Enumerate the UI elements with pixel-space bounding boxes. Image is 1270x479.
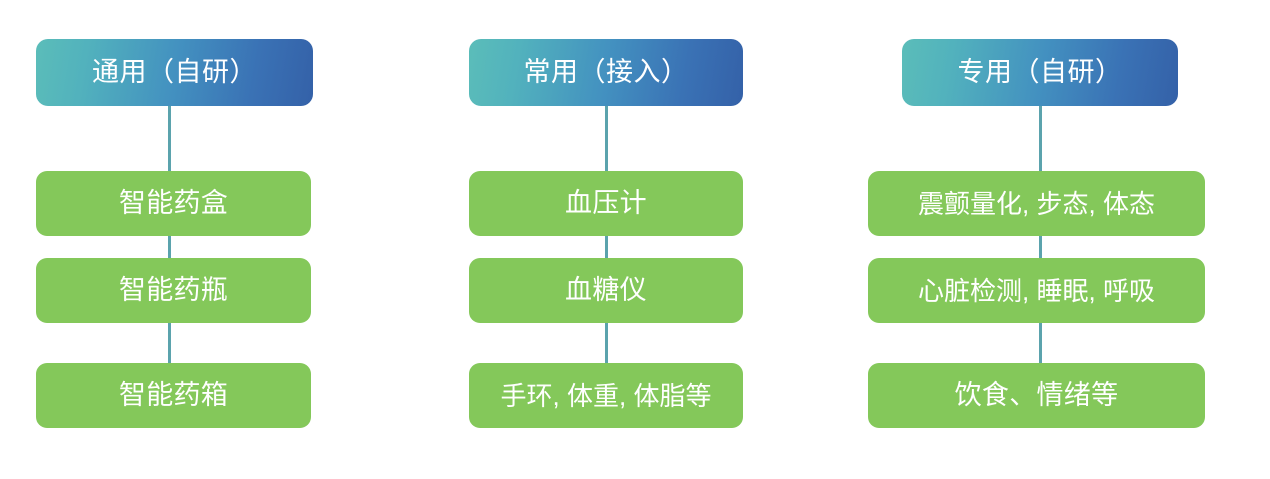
item-box[interactable]: 心脏检测, 睡眠, 呼吸 xyxy=(868,258,1205,323)
item-box[interactable]: 智能药箱 xyxy=(36,363,311,428)
item-label: 饮食、情绪等 xyxy=(955,382,1119,409)
column-header-label: 常用（接入） xyxy=(524,59,689,86)
item-box[interactable]: 血糖仪 xyxy=(469,258,743,323)
connector-line xyxy=(1039,100,1042,400)
item-label: 智能药瓶 xyxy=(119,277,228,304)
item-label: 心脏检测, 睡眠, 呼吸 xyxy=(918,278,1155,304)
item-label: 手环, 体重, 体脂等 xyxy=(501,383,712,409)
item-box[interactable]: 震颤量化, 步态, 体态 xyxy=(868,171,1205,236)
diagram-column-special: 专用（自研） 震颤量化, 步态, 体态 心脏检测, 睡眠, 呼吸 饮食、情绪等 xyxy=(860,0,1270,479)
diagram-canvas: 通用（自研） 智能药盒 智能药瓶 智能药箱 常用（接入） 血压计 血糖仪 手环,… xyxy=(0,0,1270,479)
diagram-column-common: 常用（接入） 血压计 血糖仪 手环, 体重, 体脂等 xyxy=(430,0,860,479)
column-header-label: 通用（自研） xyxy=(92,59,257,86)
connector-line xyxy=(605,100,608,400)
item-box[interactable]: 饮食、情绪等 xyxy=(868,363,1205,428)
column-header-common[interactable]: 常用（接入） xyxy=(469,39,743,106)
item-box[interactable]: 智能药瓶 xyxy=(36,258,311,323)
item-label: 智能药盒 xyxy=(119,190,228,217)
column-header-special[interactable]: 专用（自研） xyxy=(902,39,1178,106)
item-box[interactable]: 智能药盒 xyxy=(36,171,311,236)
item-label: 震颤量化, 步态, 体态 xyxy=(918,191,1155,217)
item-label: 智能药箱 xyxy=(119,382,228,409)
diagram-column-general: 通用（自研） 智能药盒 智能药瓶 智能药箱 xyxy=(0,0,430,479)
column-header-label: 专用（自研） xyxy=(958,59,1123,86)
item-box[interactable]: 血压计 xyxy=(469,171,743,236)
item-box[interactable]: 手环, 体重, 体脂等 xyxy=(469,363,743,428)
item-label: 血压计 xyxy=(565,190,647,217)
connector-line xyxy=(168,100,171,400)
column-header-general[interactable]: 通用（自研） xyxy=(36,39,313,106)
item-label: 血糖仪 xyxy=(565,277,647,304)
